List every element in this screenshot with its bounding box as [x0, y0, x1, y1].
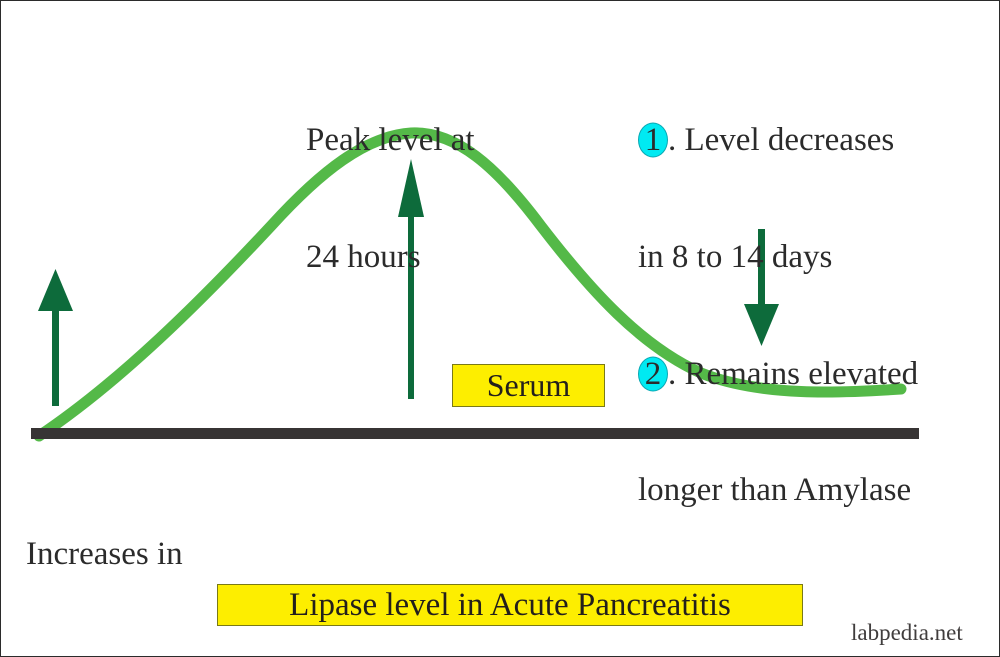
peak-annotation-text: Peak level at 24 hours — [306, 43, 475, 355]
note-item-2-text: . Remains elevated — [668, 356, 918, 392]
note-item-1-text: . Level decreases — [668, 122, 894, 158]
notes-list: 1. Level decreases in 8 to 14 days 2. Re… — [638, 43, 918, 588]
increase-annotation-text: Increases in 4 to 8 hours — [26, 457, 183, 657]
note-item-2-line-1: 2. Remains elevated — [638, 355, 918, 394]
note-item-2-line-2: longer than Amylase — [638, 471, 918, 510]
serum-label-box: Serum — [452, 364, 605, 407]
figure-title-box: Lipase level in Acute Pancreatitis — [217, 584, 803, 626]
increase-annotation-line-2: 4 to 8 hours — [26, 652, 183, 657]
increase-up-arrow — [38, 269, 73, 406]
watermark-label: labpedia.net — [851, 619, 963, 646]
lipase-curve-figure: Peak level at 24 hours 1. Level decrease… — [0, 0, 1000, 657]
note-badge-2: 2 — [638, 355, 668, 394]
increase-annotation-line-1: Increases in — [26, 535, 183, 574]
note-badge-1: 1 — [638, 121, 668, 160]
peak-annotation-line-1: Peak level at — [306, 121, 475, 160]
note-item-1-line-2: in 8 to 14 days — [638, 238, 918, 277]
peak-annotation-line-2: 24 hours — [306, 238, 475, 277]
note-item-1-line-1: 1. Level decreases — [638, 121, 918, 160]
